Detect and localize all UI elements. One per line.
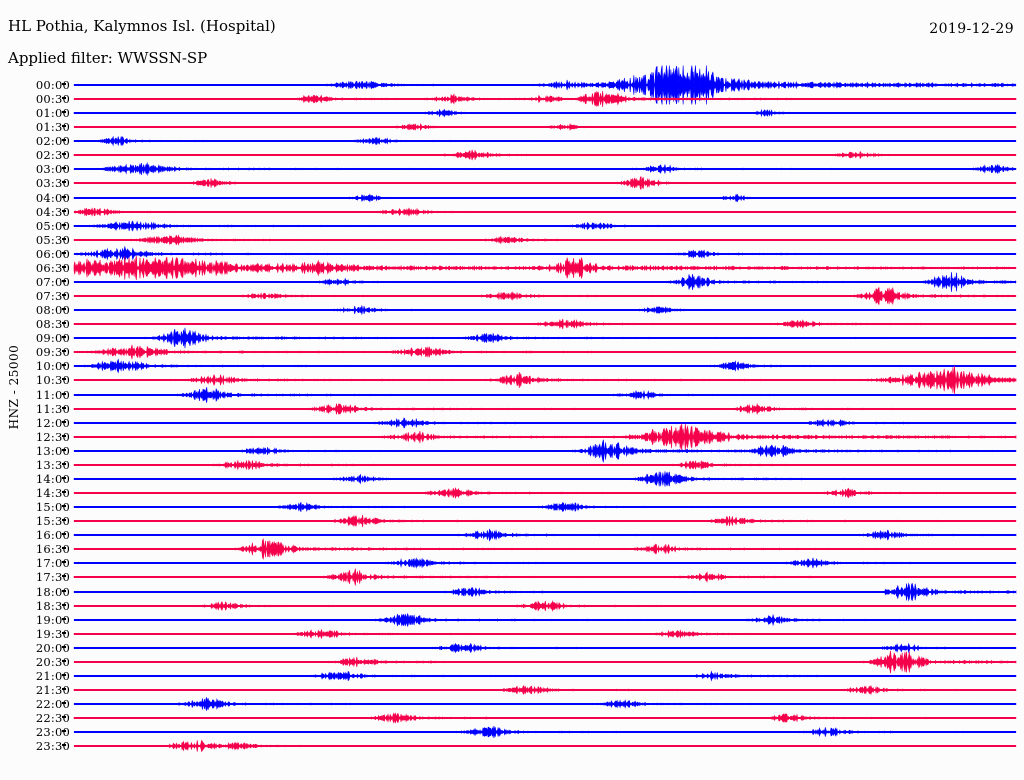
trace-time-label: 02:30 bbox=[0, 148, 70, 162]
trace-time-label: 20:00 bbox=[0, 641, 70, 655]
trace-axis-tick bbox=[62, 435, 66, 437]
trace-time-label: 08:30 bbox=[0, 317, 70, 331]
trace-time-label: 15:00 bbox=[0, 500, 70, 514]
trace-time-label: 06:00 bbox=[0, 247, 70, 261]
trace-axis-tick bbox=[62, 350, 66, 352]
trace-axis-tick bbox=[62, 604, 66, 606]
trace-axis-tick bbox=[62, 561, 66, 563]
trace-axis-tick bbox=[62, 463, 66, 465]
trace-time-label: 05:30 bbox=[0, 233, 70, 247]
trace-axis-tick bbox=[62, 688, 66, 690]
trace-time-label: 17:30 bbox=[0, 570, 70, 584]
trace-axis-tick bbox=[62, 378, 66, 380]
trace-axis-tick bbox=[62, 519, 66, 521]
trace-time-label: 16:00 bbox=[0, 528, 70, 542]
trace-time-label: 10:00 bbox=[0, 359, 70, 373]
trace-time-label: 23:00 bbox=[0, 725, 70, 739]
trace-axis-tick bbox=[62, 702, 66, 704]
trace-axis-tick bbox=[62, 421, 66, 423]
trace-axis-tick bbox=[62, 153, 66, 155]
trace-axis-tick bbox=[62, 505, 66, 507]
trace-axis-tick bbox=[62, 280, 66, 282]
trace-time-label: 12:30 bbox=[0, 430, 70, 444]
trace-axis-tick bbox=[62, 716, 66, 718]
seismic-trace bbox=[74, 726, 1016, 766]
helicorder-page: HL Pothia, Kalymnos Isl. (Hospital) Appl… bbox=[0, 0, 1024, 780]
trace-time-label: 09:00 bbox=[0, 331, 70, 345]
trace-time-label: 01:30 bbox=[0, 120, 70, 134]
trace-axis-tick bbox=[62, 139, 66, 141]
trace-time-label: 21:30 bbox=[0, 683, 70, 697]
trace-axis-tick bbox=[62, 364, 66, 366]
trace-time-label: 23:30 bbox=[0, 739, 70, 753]
trace-axis-tick bbox=[62, 252, 66, 254]
trace-axis-tick bbox=[62, 590, 66, 592]
trace-axis-tick bbox=[62, 407, 66, 409]
trace-time-label: 02:00 bbox=[0, 134, 70, 148]
trace-time-label: 13:30 bbox=[0, 458, 70, 472]
trace-time-label: 16:30 bbox=[0, 542, 70, 556]
trace-axis-tick bbox=[62, 393, 66, 395]
trace-time-label: 01:00 bbox=[0, 106, 70, 120]
trace-axis-tick bbox=[62, 575, 66, 577]
trace-axis-tick bbox=[62, 308, 66, 310]
trace-axis-tick bbox=[62, 238, 66, 240]
trace-axis-tick bbox=[62, 83, 66, 85]
trace-axis-tick bbox=[62, 167, 66, 169]
trace-time-label: 10:30 bbox=[0, 373, 70, 387]
trace-time-label: 11:00 bbox=[0, 388, 70, 402]
trace-time-label: 05:00 bbox=[0, 219, 70, 233]
page-title: HL Pothia, Kalymnos Isl. (Hospital) bbox=[8, 19, 276, 34]
trace-time-label: 14:00 bbox=[0, 472, 70, 486]
applied-filter-label: Applied filter: WWSSN-SP bbox=[8, 51, 207, 66]
trace-axis-tick bbox=[62, 674, 66, 676]
trace-time-label: 04:00 bbox=[0, 191, 70, 205]
trace-axis-tick bbox=[62, 646, 66, 648]
trace-axis-tick bbox=[62, 125, 66, 127]
trace-axis-tick bbox=[62, 181, 66, 183]
trace-time-label: 20:30 bbox=[0, 655, 70, 669]
trace-axis-tick bbox=[62, 97, 66, 99]
trace-time-label: 03:30 bbox=[0, 176, 70, 190]
trace-axis-tick bbox=[62, 744, 66, 746]
trace-axis-tick bbox=[62, 111, 66, 113]
trace-time-label: 17:00 bbox=[0, 556, 70, 570]
trace-time-label: 22:30 bbox=[0, 711, 70, 725]
trace-time-label: 04:30 bbox=[0, 205, 70, 219]
trace-axis-tick bbox=[62, 266, 66, 268]
trace-time-label: 21:00 bbox=[0, 669, 70, 683]
trace-time-label: 09:30 bbox=[0, 345, 70, 359]
trace-axis-tick bbox=[62, 322, 66, 324]
trace-time-label: 11:30 bbox=[0, 402, 70, 416]
trace-axis-tick bbox=[62, 210, 66, 212]
helicorder-plot: 00:0000:3001:0001:3002:0002:3003:0003:30… bbox=[0, 78, 1024, 778]
trace-time-label: 07:00 bbox=[0, 275, 70, 289]
trace-axis-tick bbox=[62, 224, 66, 226]
trace-axis-tick bbox=[62, 533, 66, 535]
trace-axis-tick bbox=[62, 449, 66, 451]
trace-axis-tick bbox=[62, 294, 66, 296]
trace-time-label: 00:30 bbox=[0, 92, 70, 106]
trace-axis-tick bbox=[62, 618, 66, 620]
trace-axis-tick bbox=[62, 491, 66, 493]
trace-axis-tick bbox=[62, 730, 66, 732]
trace-time-label: 07:30 bbox=[0, 289, 70, 303]
trace-time-label: 06:30 bbox=[0, 261, 70, 275]
trace-axis-tick bbox=[62, 196, 66, 198]
trace-axis-tick bbox=[62, 632, 66, 634]
trace-time-label: 03:00 bbox=[0, 162, 70, 176]
trace-time-label: 19:30 bbox=[0, 627, 70, 641]
trace-time-label: 00:00 bbox=[0, 78, 70, 92]
trace-time-label: 22:00 bbox=[0, 697, 70, 711]
trace-time-label: 19:00 bbox=[0, 613, 70, 627]
record-date: 2019-12-29 bbox=[929, 22, 1014, 36]
trace-axis-tick bbox=[62, 336, 66, 338]
trace-axis-tick bbox=[62, 547, 66, 549]
trace-time-label: 14:30 bbox=[0, 486, 70, 500]
trace-time-label: 12:00 bbox=[0, 416, 70, 430]
trace-axis-tick bbox=[62, 477, 66, 479]
trace-row: 23:30 bbox=[0, 739, 1024, 753]
trace-time-label: 18:30 bbox=[0, 599, 70, 613]
trace-axis-tick bbox=[62, 660, 66, 662]
trace-time-label: 13:00 bbox=[0, 444, 70, 458]
trace-time-label: 18:00 bbox=[0, 585, 70, 599]
trace-time-label: 08:00 bbox=[0, 303, 70, 317]
trace-time-label: 15:30 bbox=[0, 514, 70, 528]
